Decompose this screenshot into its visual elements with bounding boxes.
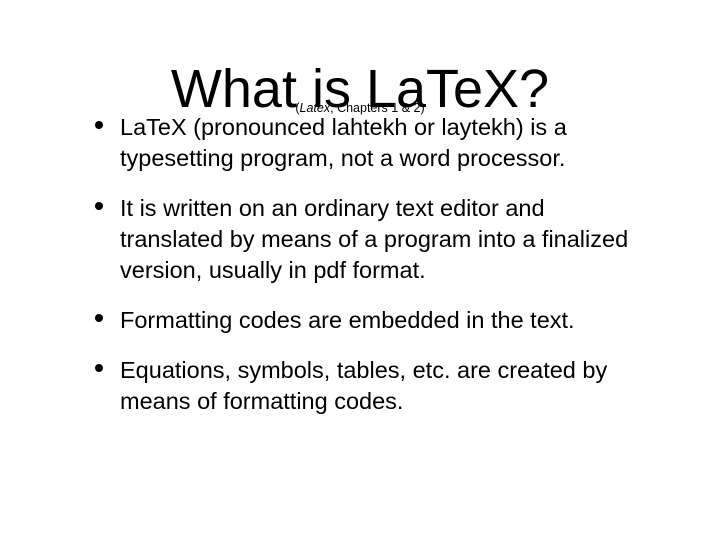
round-bullet-icon xyxy=(95,364,103,372)
presentation-slide: What is LaTeX? (Latex, Chapters 1 & 2) L… xyxy=(0,0,720,539)
list-item-text: Equations, symbols, tables, etc. are cre… xyxy=(120,355,654,417)
list-item: It is written on an ordinary text editor… xyxy=(88,193,654,286)
bullet-list: LaTeX (pronounced lahtekh or laytekh) is… xyxy=(88,112,654,417)
round-bullet-icon xyxy=(95,202,103,210)
list-item-text: It is written on an ordinary text editor… xyxy=(120,193,654,286)
round-bullet-icon xyxy=(95,314,103,322)
slide-source-note: (Latex, Chapters 1 & 2) xyxy=(0,101,720,116)
list-item: Equations, symbols, tables, etc. are cre… xyxy=(88,355,654,417)
list-item-text: LaTeX (pronounced lahtekh or laytekh) is… xyxy=(120,112,654,174)
round-bullet-icon xyxy=(95,121,103,129)
list-item: Formatting codes are embedded in the tex… xyxy=(88,305,654,336)
list-item-text: Formatting codes are embedded in the tex… xyxy=(120,305,654,336)
source-note-chapters: , Chapters 1 & 2) xyxy=(330,101,425,115)
list-item: LaTeX (pronounced lahtekh or laytekh) is… xyxy=(88,112,654,174)
source-note-title: Latex xyxy=(300,101,331,115)
